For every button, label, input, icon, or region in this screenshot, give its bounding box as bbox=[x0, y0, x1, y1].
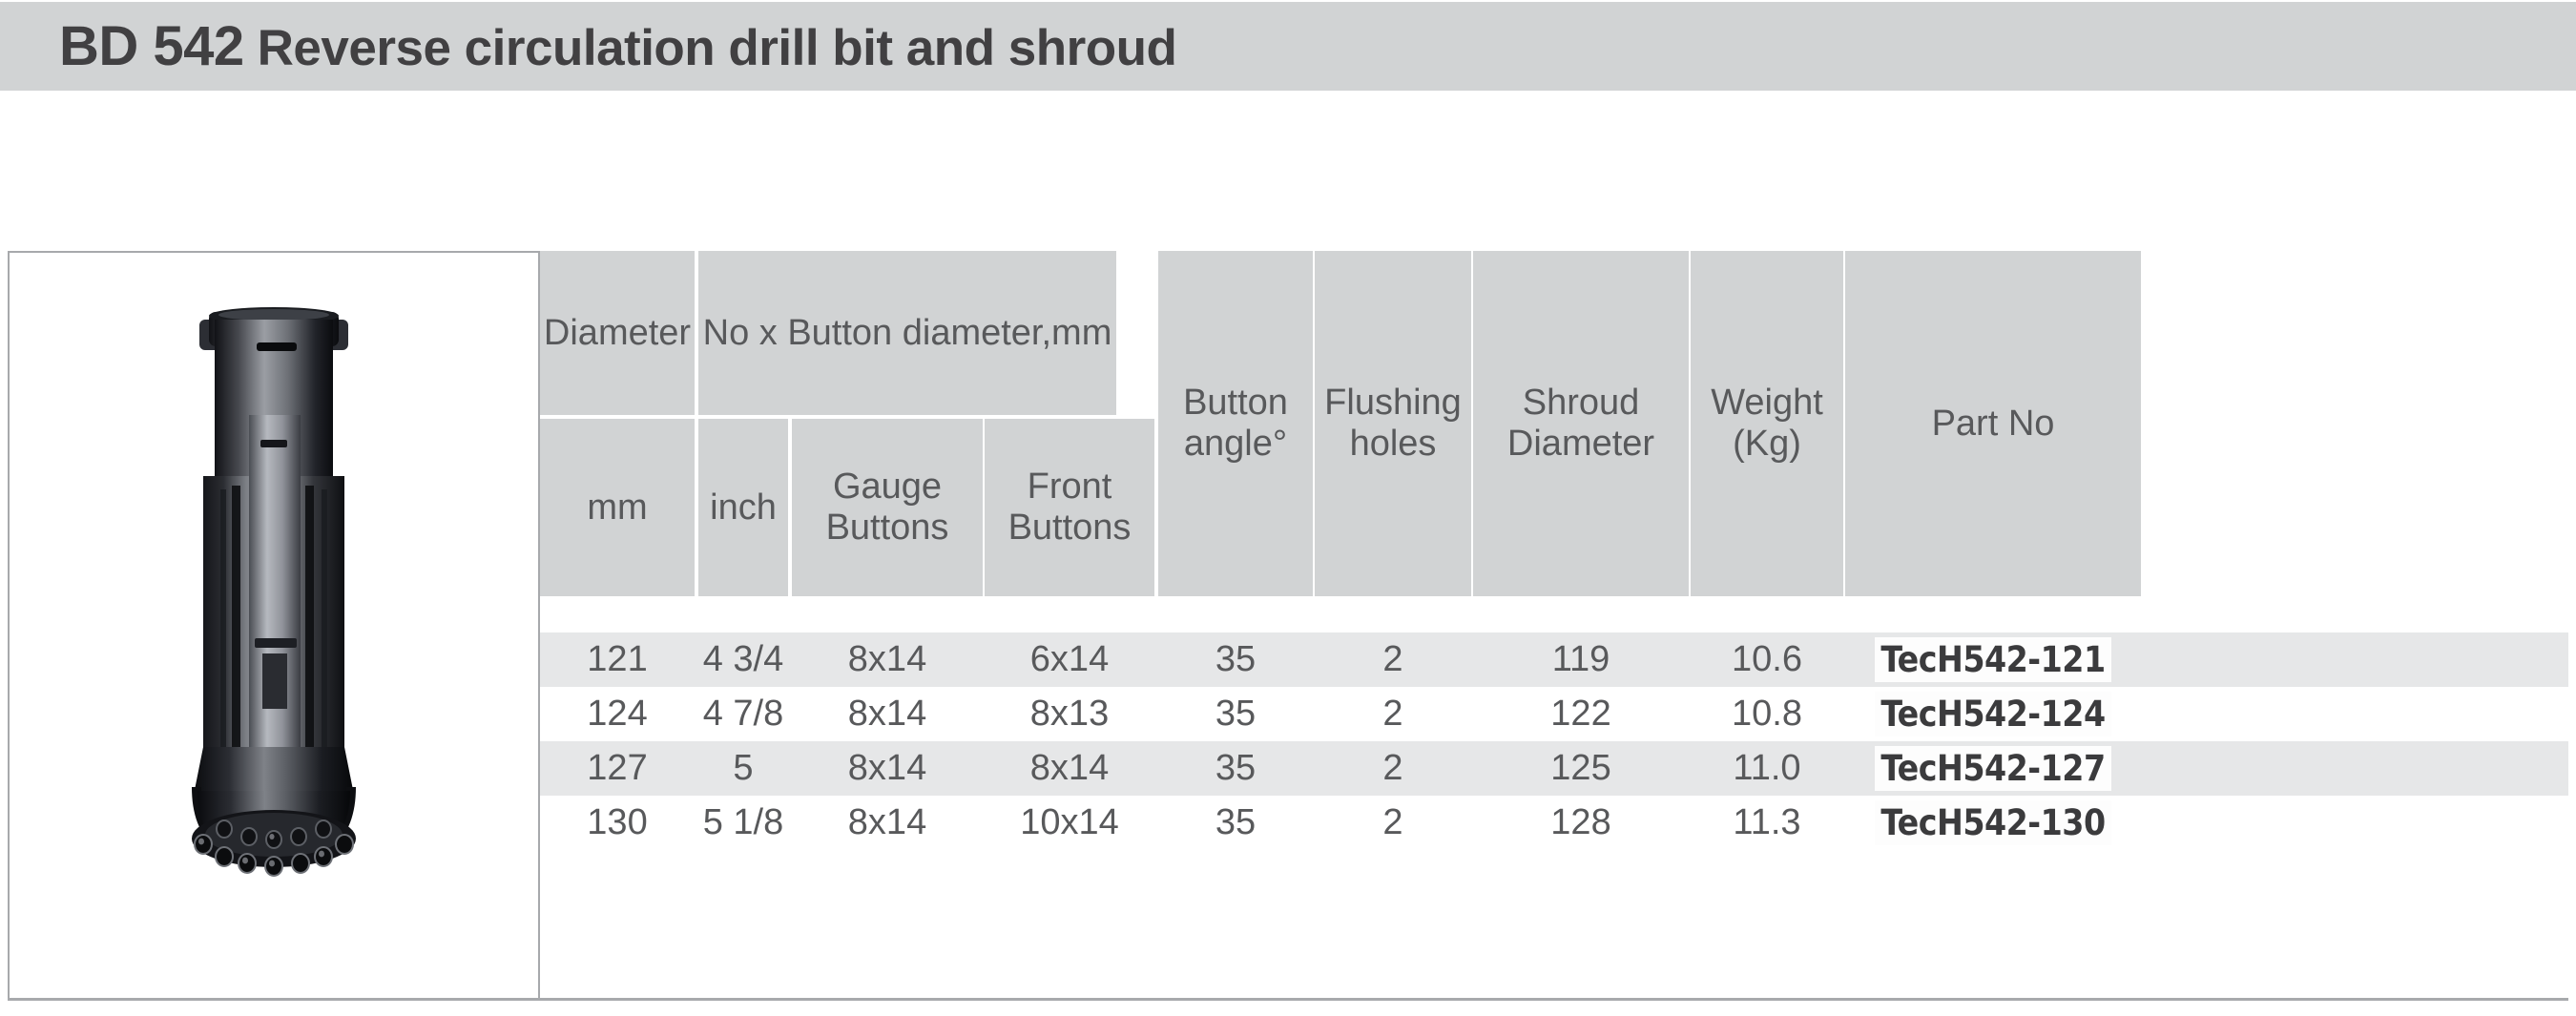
cell-diameter-mm: 130 bbox=[540, 796, 695, 850]
cell-diameter-inch: 4 7/8 bbox=[698, 687, 788, 741]
header-gauge-buttons: Gauge Buttons bbox=[792, 419, 983, 596]
cell-part-no: TecH542-121 bbox=[1845, 632, 2141, 687]
cell-part-no: TecH542-127 bbox=[1845, 741, 2141, 796]
cell-gauge-buttons: 8x14 bbox=[792, 796, 983, 850]
cell-gauge-buttons: 8x14 bbox=[792, 741, 983, 796]
cell-shroud-diameter: 125 bbox=[1473, 741, 1689, 796]
header-diameter-mm: mm bbox=[540, 419, 695, 596]
cell-weight: 10.6 bbox=[1691, 632, 1843, 687]
cell-front-buttons: 10x14 bbox=[985, 796, 1154, 850]
cell-diameter-inch: 4 3/4 bbox=[698, 632, 788, 687]
part-no-value: TecH542-127 bbox=[1875, 746, 2110, 791]
cell-gauge-buttons: 8x14 bbox=[792, 687, 983, 741]
cell-part-no: TecH542-124 bbox=[1845, 687, 2141, 741]
cell-front-buttons: 8x13 bbox=[985, 687, 1154, 741]
cell-diameter-mm: 127 bbox=[540, 741, 695, 796]
table-row[interactable]: 124 4 7/8 8x14 8x13 35 2 122 10.8 TecH54… bbox=[540, 687, 2568, 741]
cell-button-angle: 35 bbox=[1158, 741, 1313, 796]
cell-front-buttons: 6x14 bbox=[985, 632, 1154, 687]
cell-front-buttons: 8x14 bbox=[985, 741, 1154, 796]
header-part-no: Part No bbox=[1845, 251, 2141, 596]
table-row[interactable]: 127 5 8x14 8x14 35 2 125 11.0 TecH542-12… bbox=[540, 741, 2568, 796]
table-row[interactable]: 121 4 3/4 8x14 6x14 35 2 119 10.6 TecH54… bbox=[540, 632, 2568, 687]
header-diameter-inch: inch bbox=[698, 419, 788, 596]
cell-flushing-holes: 2 bbox=[1315, 741, 1471, 796]
cell-flushing-holes: 2 bbox=[1315, 796, 1471, 850]
cell-flushing-holes: 2 bbox=[1315, 687, 1471, 741]
cell-diameter-mm: 121 bbox=[540, 632, 695, 687]
table-row[interactable]: 130 5 1/8 8x14 10x14 35 2 128 11.3 TecH5… bbox=[540, 796, 2568, 850]
cell-weight: 11.0 bbox=[1691, 741, 1843, 796]
spec-table: Diameter No x Button diameter,mm mm inch… bbox=[540, 251, 2568, 1000]
table-body: 121 4 3/4 8x14 6x14 35 2 119 10.6 TecH54… bbox=[540, 632, 2568, 850]
product-image-cell bbox=[8, 251, 540, 1000]
cell-part-no: TecH542-130 bbox=[1845, 796, 2141, 850]
header-button-angle-line2: angle° bbox=[1184, 424, 1287, 465]
cell-shroud-diameter: 128 bbox=[1473, 796, 1689, 850]
cell-diameter-mm: 124 bbox=[540, 687, 695, 741]
cell-shroud-diameter: 119 bbox=[1473, 632, 1689, 687]
product-description: Reverse circulation drill bit and shroud bbox=[258, 20, 1177, 76]
table-bottom-border bbox=[8, 998, 2568, 1001]
spec-table-area: Diameter No x Button diameter,mm mm inch… bbox=[8, 251, 2568, 1005]
header-group-button-diameter: No x Button diameter,mm bbox=[698, 251, 1116, 415]
cell-diameter-inch: 5 bbox=[698, 741, 788, 796]
part-no-value: TecH542-130 bbox=[1875, 800, 2110, 845]
header-weight: Weight (Kg) bbox=[1691, 251, 1843, 596]
cell-diameter-inch: 5 1/8 bbox=[698, 796, 788, 850]
header-weight-line1: Weight bbox=[1711, 383, 1823, 424]
cell-button-angle: 35 bbox=[1158, 687, 1313, 741]
cell-shroud-diameter: 122 bbox=[1473, 687, 1689, 741]
header-front-buttons: Front Buttons bbox=[985, 419, 1154, 596]
header-button-angle: Button angle° bbox=[1158, 251, 1313, 596]
header-flushing-holes-line2: holes bbox=[1350, 424, 1437, 465]
cell-weight: 11.3 bbox=[1691, 796, 1843, 850]
table-header: Diameter No x Button diameter,mm mm inch… bbox=[540, 251, 2568, 596]
header-weight-line2: (Kg) bbox=[1733, 424, 1801, 465]
part-no-value: TecH542-124 bbox=[1875, 692, 2110, 736]
cell-button-angle: 35 bbox=[1158, 632, 1313, 687]
header-button-angle-line1: Button bbox=[1183, 383, 1288, 424]
header-shroud-diameter-line2: Diameter bbox=[1507, 424, 1654, 465]
cell-weight: 10.8 bbox=[1691, 687, 1843, 741]
header-flushing-holes-line1: Flushing bbox=[1324, 383, 1462, 424]
cell-button-angle: 35 bbox=[1158, 796, 1313, 850]
cell-gauge-buttons: 8x14 bbox=[792, 632, 983, 687]
part-no-value: TecH542-121 bbox=[1875, 637, 2110, 682]
page-title-bar: BD 542Reverse circulation drill bit and … bbox=[0, 2, 2576, 91]
header-group-diameter: Diameter bbox=[540, 251, 695, 415]
page-title: BD 542Reverse circulation drill bit and … bbox=[59, 14, 1176, 78]
header-flushing-holes: Flushing holes bbox=[1315, 251, 1471, 596]
drill-bit-icon bbox=[150, 299, 398, 966]
header-shroud-diameter: Shroud Diameter bbox=[1473, 251, 1689, 596]
cell-flushing-holes: 2 bbox=[1315, 632, 1471, 687]
header-shroud-diameter-line1: Shroud bbox=[1523, 383, 1640, 424]
product-code: BD 542 bbox=[59, 15, 244, 77]
